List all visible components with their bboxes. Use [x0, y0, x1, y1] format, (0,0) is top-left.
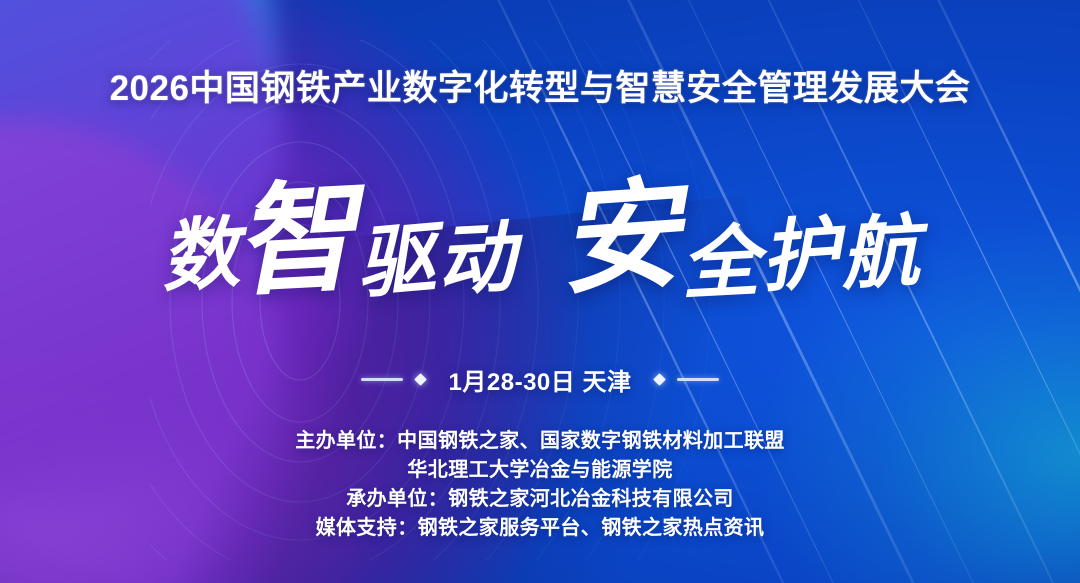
slogan-char-shu: 数 — [158, 214, 241, 297]
ornament-diamond-right — [654, 373, 667, 386]
main-title: 2026中国钢铁产业数字化转型与智慧安全管理发展大会 — [0, 60, 1080, 111]
organizers-block: 主办单位：中国钢铁之家、国家数字钢铁材料加工联盟 华北理工大学冶金与能源学院 承… — [0, 427, 1080, 543]
organizer-line-host-2: 华北理工大学冶金与能源学院 — [0, 456, 1080, 485]
ornament-diamond-left — [414, 373, 427, 386]
slogan-char-hang: 航 — [839, 213, 921, 295]
banner-content: 2026中国钢铁产业数字化转型与智慧安全管理发展大会 数 智 驱 动 安 全 护… — [0, 0, 1080, 583]
slogan-char-an: 安 — [555, 174, 683, 302]
conference-banner: 2026中国钢铁产业数字化转型与智慧安全管理发展大会 数 智 驱 动 安 全 护… — [0, 0, 1080, 583]
organizer-line-host: 主办单位：中国钢铁之家、国家数字钢铁材料加工联盟 — [0, 427, 1080, 456]
slogan-calligraphy: 数 智 驱 动 安 全 护 航 — [0, 176, 1080, 312]
date-venue-text: 1月28-30日 天津 — [438, 362, 643, 397]
ornament-line-right — [677, 378, 719, 381]
ornament-line-left — [361, 378, 403, 381]
organizer-line-organizer: 承办单位：钢铁之家河北冶金科技有限公司 — [0, 485, 1080, 514]
slogan-char-quan: 全 — [679, 223, 761, 305]
slogan-char-qu: 驱 — [354, 220, 439, 305]
slogan-char-zhi: 智 — [232, 177, 358, 303]
date-venue-row: 1月28-30日 天津 — [0, 362, 1080, 397]
slogan-char-hu: 护 — [758, 214, 841, 297]
slogan-char-dong: 动 — [435, 219, 517, 301]
organizer-line-media: 媒体支持：钢铁之家服务平台、钢铁之家热点资讯 — [0, 514, 1080, 543]
